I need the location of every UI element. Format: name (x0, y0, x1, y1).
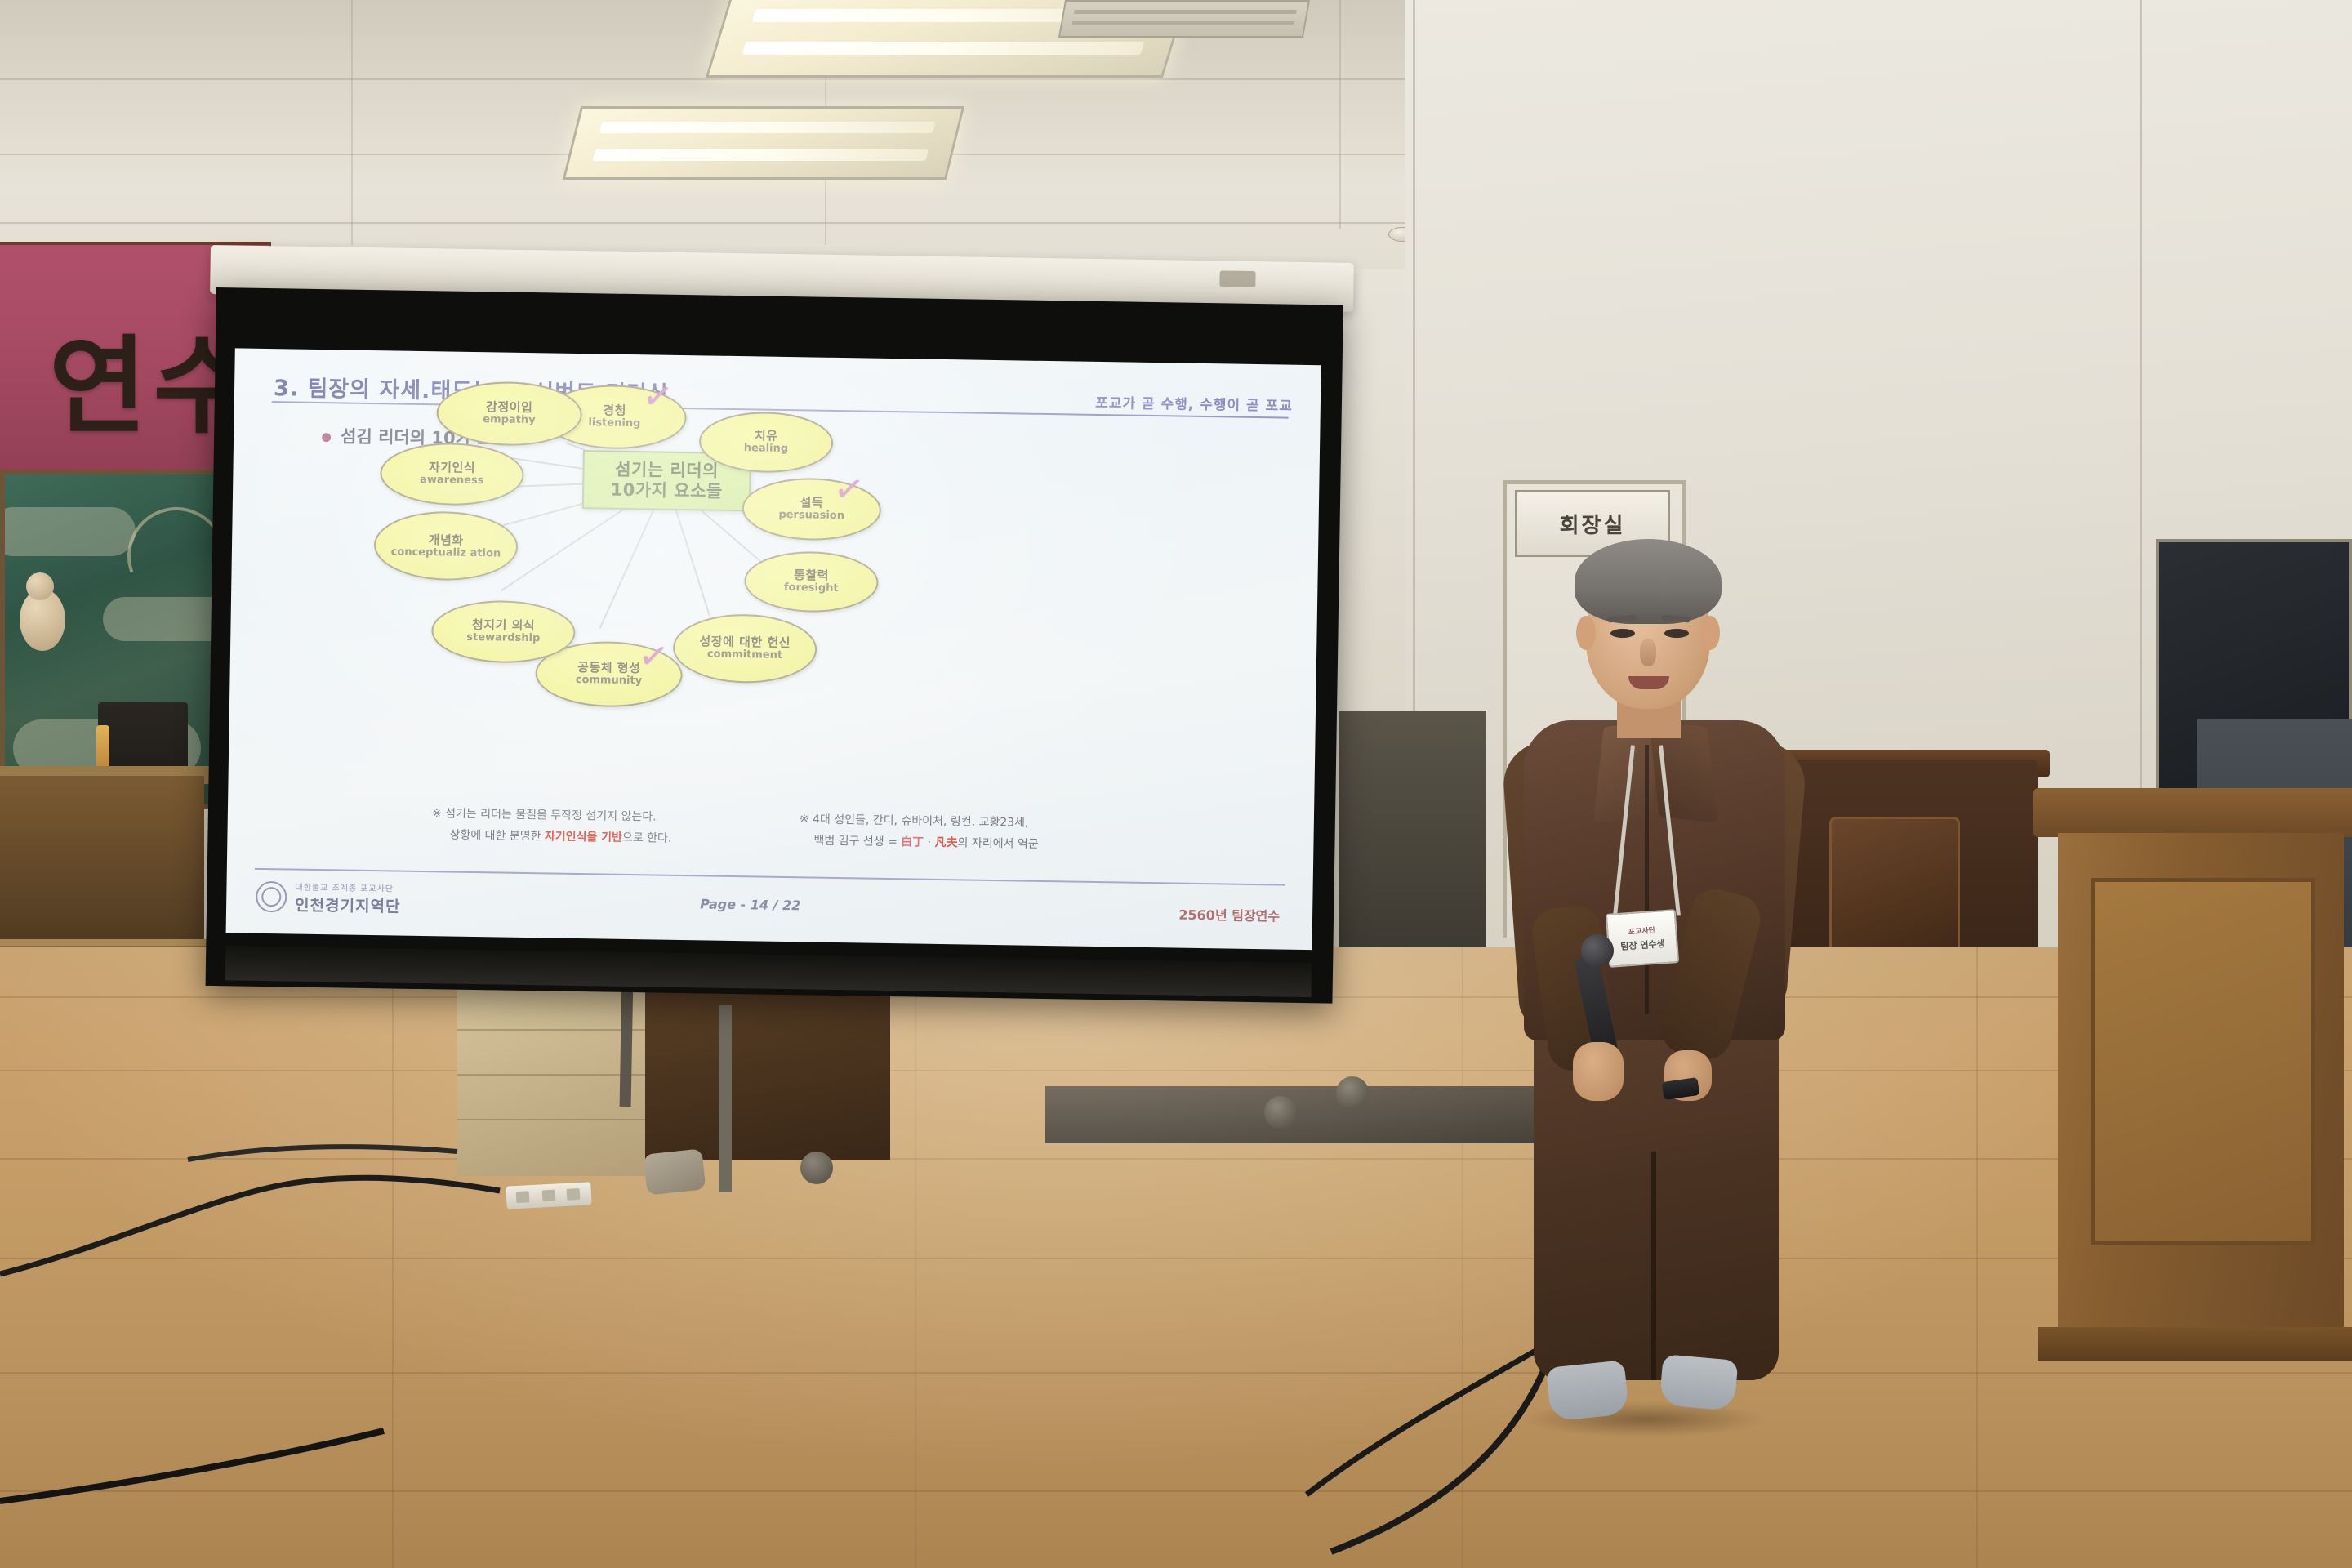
note-right-line1: ※ 4대 성인들, 간디, 슈바이처, 링컨, 교황23세, (800, 811, 1029, 832)
presentation-slide: 3. 팀장의 자세.태도는? / 서번트 리더십 포교가 곧 수행, 수행이 곧… (226, 348, 1321, 950)
presenter-trousers (1534, 1021, 1779, 1380)
note-left-line2-pre: 상황에 대한 분명한 (449, 829, 545, 844)
caster-wheel (800, 1151, 833, 1184)
trouser-seam (1651, 1151, 1656, 1380)
footer-event-name: 2560년 팀장연수 (1178, 904, 1280, 925)
podium-base (2038, 1327, 2352, 1361)
node-healing-en: healing (744, 443, 789, 455)
presenter-nose (1640, 639, 1656, 666)
name-badge: 포교사단 팀장 연수생 (1606, 909, 1679, 968)
node-healing-ko: 치유 (755, 430, 778, 443)
note-right-hanja-2: 凡夫 (934, 836, 957, 849)
node-stewardship-en: stewardship (466, 632, 540, 645)
node-awareness-en: awareness (420, 474, 484, 488)
note-right-line2-pre: 백범 김구 선생 = (813, 835, 901, 849)
badge-title: 포교사단 (1628, 924, 1655, 937)
node-conceptualization-ko: 개념화 (429, 533, 464, 547)
node-foresight-en: foresight (784, 582, 839, 595)
node-commitment-en: commitment (707, 649, 782, 662)
note-left-line2-highlight: 자기인식을 기반 (545, 830, 622, 844)
ceiling-vent-1 (1058, 0, 1310, 38)
power-strip[interactable] (506, 1182, 591, 1209)
jacket-placket (1645, 745, 1649, 1014)
note-right-line2: 백범 김구 선생 = 白丁 · 凡夫의 자리에서 역군 (813, 833, 1039, 854)
footer-org-subtitle: 대한불교 조계종 포교사단 (295, 880, 394, 894)
note-left-line2-post: 으로 한다. (622, 831, 672, 845)
caster-wheel (1264, 1096, 1297, 1129)
presenter-eye-left (1610, 629, 1635, 638)
node-community-en: community (576, 675, 643, 688)
conference-room-photo: 연수 회장실 (0, 0, 2352, 1568)
footer-page-number: Page - 14 / 22 (700, 896, 800, 913)
node-foresight-ko: 통찰력 (794, 568, 829, 582)
node-conceptualization-en: conceptualiz ation (391, 546, 501, 559)
ceiling-light-2 (563, 106, 964, 180)
wooden-floor (0, 947, 2352, 1568)
side-table (645, 972, 890, 1160)
node-persuasion-ko: 설득 (800, 497, 823, 510)
floor-bag (644, 1148, 706, 1195)
stacked-boxes (457, 988, 645, 1176)
note-right-line2-post: 의 자리에서 역군 (957, 836, 1038, 851)
badge-name: 팀장 연수생 (1620, 937, 1665, 953)
podium-front-panel (2091, 878, 2315, 1245)
slide-surface: 3. 팀장의 자세.태도는? / 서번트 리더십 포교가 곧 수행, 수행이 곧… (226, 348, 1321, 950)
podium-top (2033, 788, 2352, 837)
altar-cabinet (0, 776, 204, 947)
presenter-hand-holding-microphone (1573, 1042, 1624, 1101)
presenter-ear-right (1700, 616, 1720, 650)
presenter-sock-right (1659, 1354, 1738, 1411)
screen-housing-cap (1219, 270, 1255, 287)
caster-wheel (1336, 1076, 1369, 1109)
center-line-1: 섬기는 리더의 (615, 460, 719, 482)
presenter-hair (1575, 539, 1722, 624)
center-line-2: 10가지 요소들 (610, 480, 723, 502)
screen-stand-pole (719, 1004, 732, 1192)
presenter-eye-right (1664, 629, 1689, 638)
footer-org-name: 인천경기지역단 (295, 893, 401, 917)
presenter-ear-left (1576, 616, 1596, 650)
note-right-hanja-1: 白丁 (901, 835, 924, 849)
node-persuasion-en: persuasion (778, 510, 844, 523)
node-empathy-en: empathy (483, 414, 536, 427)
presenter: 포교사단 팀장 연수생 (1462, 531, 1829, 1454)
note-left-line1: ※ 섬기는 리더는 물질을 무작정 섬기지 않는다. (432, 805, 657, 826)
projection-screen: 3. 팀장의 자세.태도는? / 서번트 리더십 포교가 곧 수행, 수행이 곧… (206, 287, 1343, 1004)
note-left-line2: 상황에 대한 분명한 자기인식을 기반으로 한다. (449, 827, 671, 849)
note-right-line2-mid: · (924, 836, 935, 849)
screen-support-leg (620, 976, 634, 1107)
node-listening-ko: 경청 (603, 404, 626, 418)
node-listening-en: listening (588, 417, 640, 430)
